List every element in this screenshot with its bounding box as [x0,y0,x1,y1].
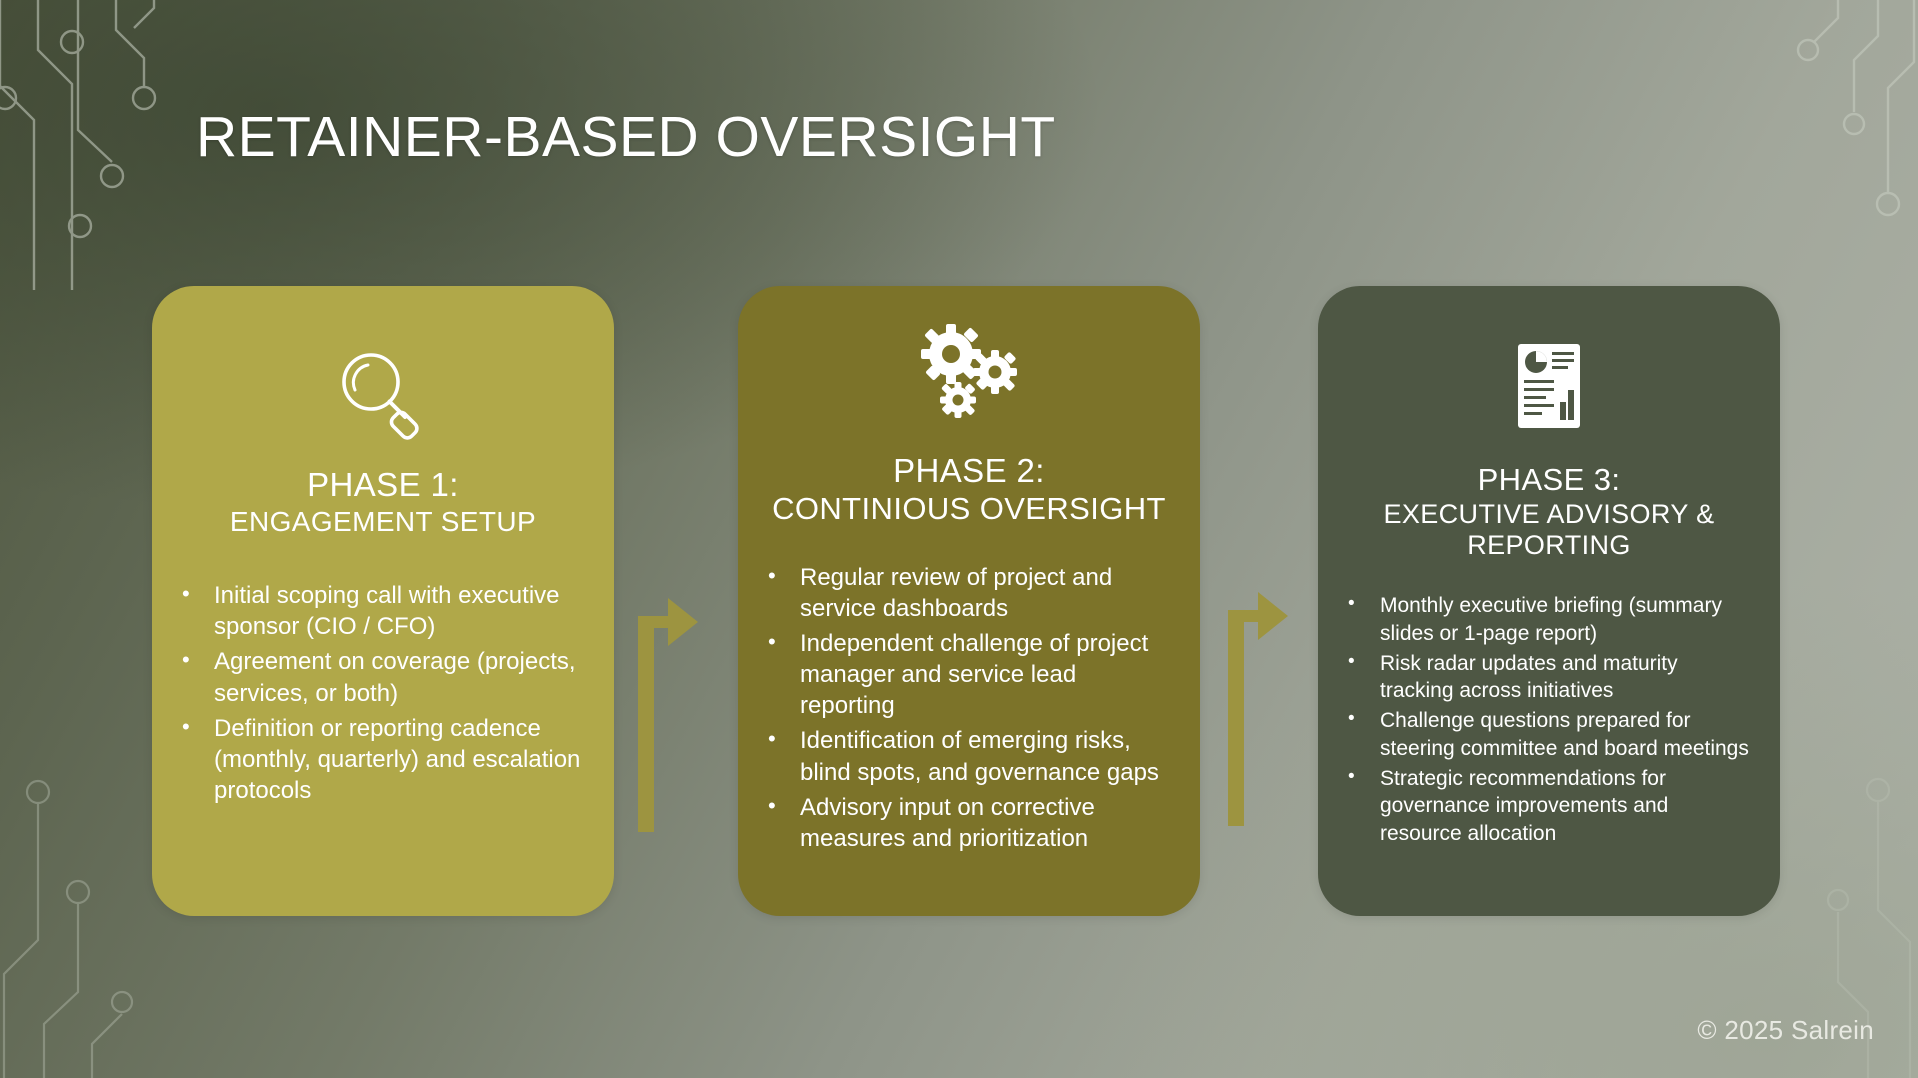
list-item: Identification of emerging risks, blind … [756,725,1174,787]
phase-card-3-heading: PHASE 3: EXECUTIVE ADVISORY & REPORTING [1336,462,1762,562]
phase-card-2[interactable]: PHASE 2: CONTINIOUS OVERSIGHT Regular re… [738,286,1200,916]
phase-card-1-heading-line-1: PHASE 1: [170,466,596,505]
list-item: Initial scoping call with executive spon… [170,580,586,642]
list-item: Risk radar updates and maturity tracking… [1336,650,1754,705]
phase-card-2-heading-line-1: PHASE 2: [756,452,1182,491]
magnifying-glass-icon [170,320,596,440]
phase-card-3-heading-line-2: EXECUTIVE ADVISORY & REPORTING [1336,499,1762,563]
list-item: Definition or reporting cadence (monthly… [170,713,586,807]
phase-card-1-heading-line-2: ENGAGEMENT SETUP [170,505,596,538]
phase-card-2-heading: PHASE 2: CONTINIOUS OVERSIGHT [756,452,1182,528]
gears-icon [756,306,1182,426]
list-item: Challenge questions prepared for steerin… [1336,707,1754,762]
phase-card-2-bullet-list: Regular review of project and service da… [756,562,1182,855]
list-item: Independent challenge of project manager… [756,628,1174,722]
phase-card-1-bullet-list: Initial scoping call with executive spon… [170,580,596,806]
phase-card-1[interactable]: PHASE 1: ENGAGEMENT SETUP Initial scopin… [152,286,614,916]
slide-canvas: RETAINER-BASED OVERSIGHT PHASE 1: ENGAGE… [0,0,1918,1078]
phase-card-3-heading-line-1: PHASE 3: [1336,462,1762,499]
circuit-trace-top-right-decoration [1718,0,1918,272]
report-chart-icon [1336,316,1762,436]
list-item: Regular review of project and service da… [756,562,1174,624]
page-title: RETAINER-BASED OVERSIGHT [196,104,1056,170]
phase-card-3-bullet-list: Monthly executive briefing (summary slid… [1336,592,1762,847]
connector-arrow-phase-1-to-2 [628,582,700,837]
list-item: Agreement on coverage (projects, service… [170,646,586,708]
connector-arrow-phase-2-to-3 [1218,576,1290,831]
phase-card-1-heading: PHASE 1: ENGAGEMENT SETUP [170,466,596,538]
list-item: Strategic recommendations for governance… [1336,765,1754,847]
footer-copyright: © 2025 Salrein [1697,1015,1874,1046]
list-item: Monthly executive briefing (summary slid… [1336,592,1754,647]
phase-card-2-heading-line-2: CONTINIOUS OVERSIGHT [756,491,1182,528]
phase-card-3[interactable]: PHASE 3: EXECUTIVE ADVISORY & REPORTING … [1318,286,1780,916]
list-item: Advisory input on corrective measures an… [756,792,1174,854]
